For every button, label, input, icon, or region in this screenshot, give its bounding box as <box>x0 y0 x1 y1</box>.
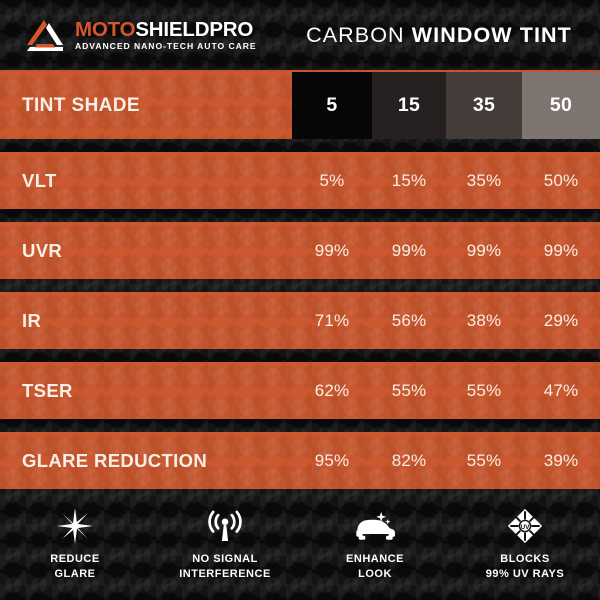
shade-column-header-50[interactable]: 50 <box>522 72 600 139</box>
row-divider <box>0 139 600 152</box>
cell-tser-5: 62% <box>292 381 372 401</box>
cell-tser-50: 47% <box>522 381 600 401</box>
spec-table: TINT SHADE 5 15 35 50 VLT 5% 15% 35% 50%… <box>0 72 600 489</box>
cell-uvr-5: 99% <box>292 241 372 261</box>
row-divider <box>0 419 600 432</box>
row-label-glare-reduction: GLARE REDUCTION <box>0 450 292 472</box>
feature-label-no-signal-interference: NO SIGNAL INTERFERENCE <box>179 552 271 581</box>
cell-glare-50: 39% <box>522 451 600 471</box>
shade-column-header-5[interactable]: 5 <box>292 72 372 139</box>
feature-line1: ENHANCE <box>346 553 404 565</box>
table-row: UVR 99% 99% 99% 99% <box>0 222 600 279</box>
feature-blocks-uv-rays: UV BLOCKS 99% UV RAYS <box>450 495 600 581</box>
brand-name: MOTOSHIELDPRO <box>75 19 257 40</box>
uv-diamond-icon: UV <box>507 506 543 546</box>
row-label-uvr: UVR <box>0 240 292 262</box>
starburst-icon <box>56 506 94 546</box>
feature-line2: GLARE <box>54 568 95 580</box>
cell-vlt-5: 5% <box>292 171 372 191</box>
cell-ir-5: 71% <box>292 311 372 331</box>
cell-vlt-50: 50% <box>522 171 600 191</box>
cell-glare-35: 55% <box>446 451 522 471</box>
feature-line1: NO SIGNAL <box>192 553 258 565</box>
cell-uvr-50: 99% <box>522 241 600 261</box>
cell-ir-50: 29% <box>522 311 600 331</box>
row-divider <box>0 279 600 292</box>
cell-ir-35: 38% <box>446 311 522 331</box>
feature-label-blocks-uv-rays: BLOCKS 99% UV RAYS <box>486 552 564 581</box>
cell-tser-35: 55% <box>446 381 522 401</box>
feature-no-signal-interference: NO SIGNAL INTERFERENCE <box>150 495 300 581</box>
row-label-tser: TSER <box>0 380 292 402</box>
brand-logo: MOTOSHIELDPRO ADVANCED NANO-TECH AUTO CA… <box>0 18 292 52</box>
feature-label-reduce-glare: REDUCE GLARE <box>50 552 99 581</box>
page-title-bold: WINDOW TINT <box>412 23 572 47</box>
table-row: TSER 62% 55% 55% 47% <box>0 362 600 419</box>
tint-spec-sheet: MOTOSHIELDPRO ADVANCED NANO-TECH AUTO CA… <box>0 0 600 600</box>
feature-line2: 99% UV RAYS <box>486 568 564 580</box>
row-label-ir: IR <box>0 310 292 332</box>
shade-column-header-35[interactable]: 35 <box>446 72 522 139</box>
cell-glare-15: 82% <box>372 451 446 471</box>
svg-text:UV: UV <box>521 524 531 531</box>
table-row: IR 71% 56% 38% 29% <box>0 292 600 349</box>
brand-tagline: ADVANCED NANO-TECH AUTO CARE <box>75 41 257 51</box>
cell-ir-15: 56% <box>372 311 446 331</box>
feature-line2: INTERFERENCE <box>179 568 271 580</box>
table-row: GLARE REDUCTION 95% 82% 55% 39% <box>0 432 600 489</box>
cell-vlt-35: 35% <box>446 171 522 191</box>
table-header-label: TINT SHADE <box>0 72 292 139</box>
triangle-logo-icon <box>22 18 66 52</box>
page-title-light: CARBON <box>306 23 405 47</box>
row-divider <box>0 209 600 222</box>
feature-line1: BLOCKS <box>500 553 549 565</box>
shade-column-header-15[interactable]: 15 <box>372 72 446 139</box>
cell-vlt-15: 15% <box>372 171 446 191</box>
row-label-vlt: VLT <box>0 170 292 192</box>
cell-uvr-15: 99% <box>372 241 446 261</box>
cell-tser-15: 55% <box>372 381 446 401</box>
sparkle-car-icon <box>352 506 398 546</box>
feature-label-enhance-look: ENHANCE LOOK <box>346 552 404 581</box>
table-header-row: TINT SHADE 5 15 35 50 <box>0 72 600 139</box>
page-title: CARBON WINDOW TINT <box>292 23 600 48</box>
brand-name-shield: SHIELD <box>135 18 209 41</box>
cell-glare-5: 95% <box>292 451 372 471</box>
feature-footer: REDUCE GLARE NO SIGNAL <box>0 495 600 600</box>
row-divider <box>0 349 600 362</box>
feature-line1: REDUCE <box>50 553 99 565</box>
brand-wordmark: MOTOSHIELDPRO ADVANCED NANO-TECH AUTO CA… <box>75 19 257 52</box>
feature-enhance-look: ENHANCE LOOK <box>300 495 450 581</box>
page-header: MOTOSHIELDPRO ADVANCED NANO-TECH AUTO CA… <box>0 0 600 70</box>
feature-reduce-glare: REDUCE GLARE <box>0 495 150 581</box>
cell-uvr-35: 99% <box>446 241 522 261</box>
brand-name-moto: MOTO <box>75 18 135 41</box>
feature-line2: LOOK <box>358 568 392 580</box>
table-row: VLT 5% 15% 35% 50% <box>0 152 600 209</box>
signal-tower-icon <box>205 506 245 546</box>
brand-name-pro: PRO <box>209 18 253 41</box>
